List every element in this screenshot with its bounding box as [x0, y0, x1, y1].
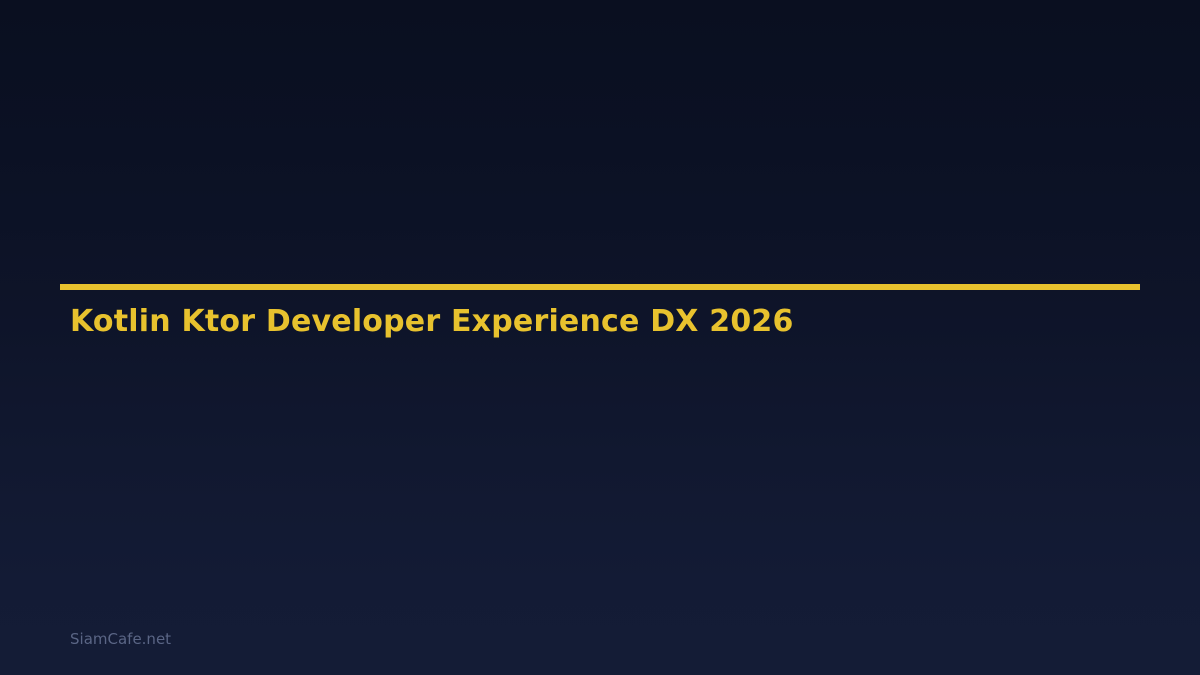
- title-slide: Kotlin Ktor Developer Experience DX 2026…: [0, 0, 1200, 675]
- footer: SiamCafe.net: [70, 628, 171, 650]
- page-title: Kotlin Ktor Developer Experience DX 2026: [70, 303, 1140, 341]
- title-block: Kotlin Ktor Developer Experience DX 2026: [70, 303, 1140, 341]
- site-watermark: SiamCafe.net: [70, 628, 171, 650]
- gold-accent-rule: [60, 284, 1140, 290]
